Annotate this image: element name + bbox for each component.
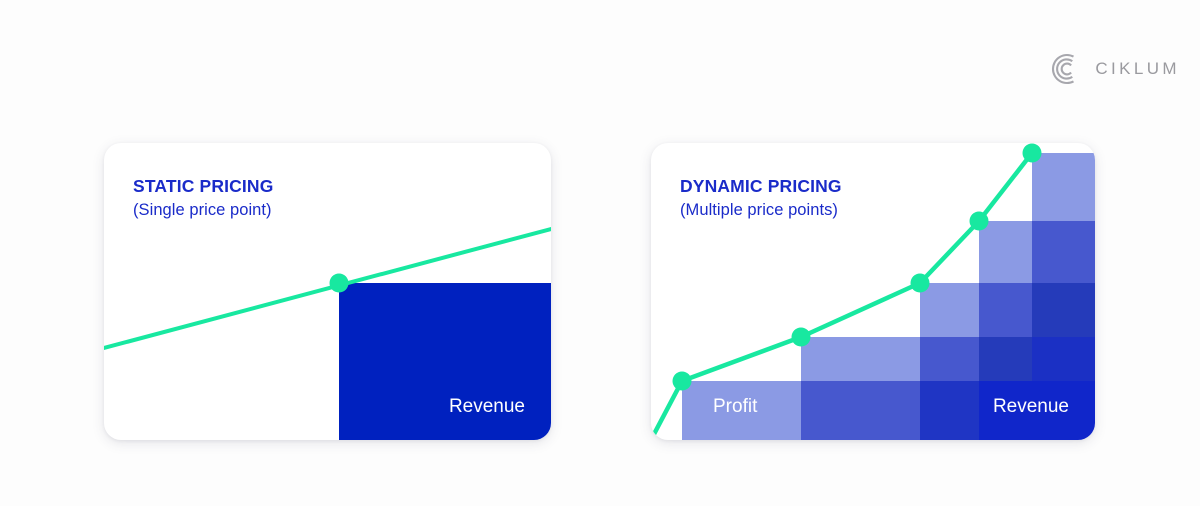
card-static-pricing: Revenue STATIC PRICING (Single price poi…: [104, 143, 551, 440]
static-chart-labels: Revenue: [104, 143, 551, 440]
card-dynamic-pricing: Profit Revenue DYNAMIC PRICING (Multiple…: [651, 143, 1095, 440]
static-revenue-label: Revenue: [449, 396, 525, 417]
dynamic-revenue-label: Revenue: [993, 396, 1069, 417]
ciklum-c-mark-icon: [1049, 52, 1083, 86]
dynamic-chart-labels: Profit Revenue: [651, 143, 1095, 440]
brand-name: CIKLUM: [1095, 59, 1180, 79]
dynamic-profit-label: Profit: [713, 396, 758, 417]
brand-logo: CIKLUM: [1049, 52, 1180, 86]
